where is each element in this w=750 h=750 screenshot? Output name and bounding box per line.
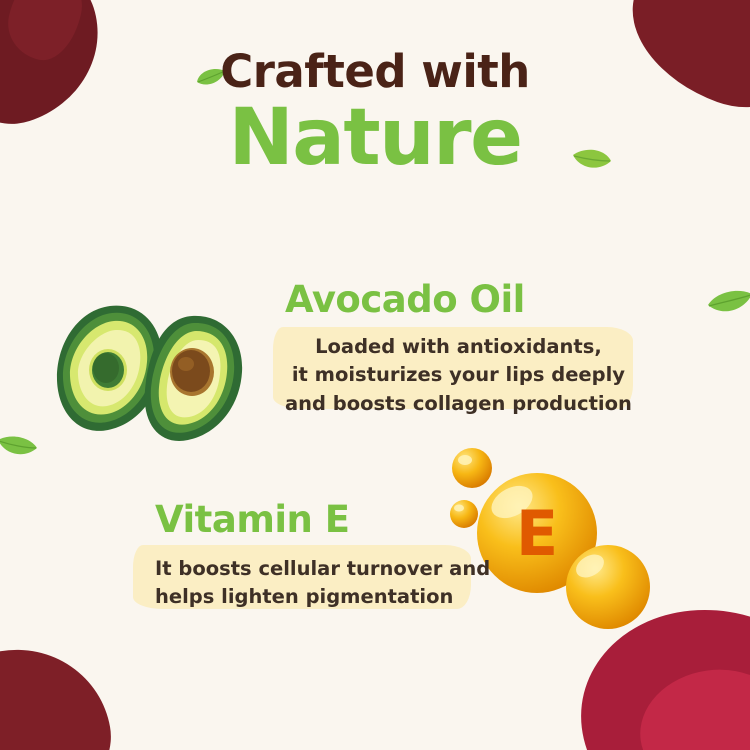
headline: Crafted with Nature [0,48,750,177]
avocado-halves-image [52,300,267,445]
ingredient-description-wrap-vitamin-e: It boosts cellular turnover and helps li… [155,555,490,612]
ingredient-description-wrap-avocado: Loaded with antioxidants, it moisturizes… [285,333,632,418]
ingredient-block-vitamin-e: Vitamin E It boosts cellular turnover an… [155,498,490,612]
ingredient-title-avocado: Avocado Oil [285,278,632,321]
poster-canvas: Crafted with Nature [0,0,750,750]
ingredient-block-avocado: Avocado Oil Loaded with antioxidants, it… [285,278,632,418]
svg-text:E: E [516,497,558,570]
ingredient-description-vitamin-e: It boosts cellular turnover and helps li… [155,555,490,612]
headline-line-2: Nature [0,99,750,177]
leaf-bottom-left-icon [0,436,38,466]
leaf-mid-right-icon [706,290,750,324]
headline-line-1: Crafted with [0,48,750,95]
smear-bottom-left [0,635,123,750]
ingredient-description-avocado: Loaded with antioxidants, it moisturizes… [285,333,632,418]
ingredient-title-vitamin-e: Vitamin E [155,498,490,541]
